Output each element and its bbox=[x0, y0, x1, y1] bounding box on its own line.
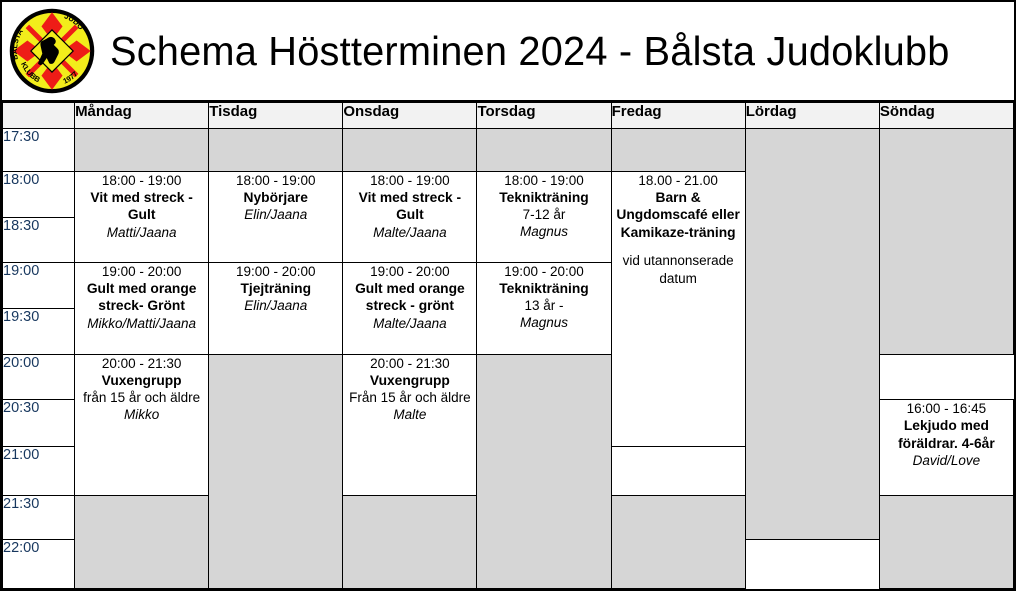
event-coach: Elin/Jaana bbox=[209, 206, 342, 223]
event-monday-1800[interactable]: 18:00 - 19:00 Vit med streck - Gult Matt… bbox=[75, 171, 209, 262]
day-header-monday: Måndag bbox=[75, 103, 209, 129]
event-time: 18:00 - 19:00 bbox=[75, 172, 208, 189]
table-header-row: Måndag Tisdag Onsdag Torsdag Fredag Lörd… bbox=[3, 103, 1014, 129]
event-time: 18:00 - 19:00 bbox=[477, 172, 610, 189]
event-subtitle: 13 år - bbox=[477, 297, 610, 314]
time-label-2200: 22:00 bbox=[3, 540, 75, 589]
page-header: BÅLSTA JUDO KLUBB 1977 Schema Hösttermin… bbox=[2, 2, 1014, 102]
event-wednesday-1900[interactable]: 19:00 - 20:00 Gult med orange streck - g… bbox=[343, 262, 477, 354]
event-tuesday-1800[interactable]: 18:00 - 19:00 Nybörjare Elin/Jaana bbox=[209, 171, 343, 262]
slot-monday-2130-2200[interactable] bbox=[75, 495, 209, 588]
event-subtitle: Från 15 år och äldre bbox=[343, 389, 476, 406]
page-title: Schema Höstterminen 2024 - Bålsta Judokl… bbox=[110, 31, 950, 72]
event-coach: Magnus bbox=[477, 314, 610, 331]
event-time: 16:00 - 16:45 bbox=[880, 400, 1013, 417]
event-monday-1900[interactable]: 19:00 - 20:00 Gult med orange streck- Gr… bbox=[75, 262, 209, 354]
time-label-2000: 20:00 bbox=[3, 354, 75, 399]
event-coach: Magnus bbox=[477, 223, 610, 240]
event-wednesday-2000[interactable]: 20:00 - 21:30 Vuxengrupp Från 15 år och … bbox=[343, 354, 477, 495]
event-name: Vit med streck - Gult bbox=[343, 189, 476, 224]
slot-tuesday-2000-2200[interactable] bbox=[209, 354, 343, 588]
event-monday-2000[interactable]: 20:00 - 21:30 Vuxengrupp från 15 år och … bbox=[75, 354, 209, 495]
schedule-page: BÅLSTA JUDO KLUBB 1977 Schema Hösttermin… bbox=[0, 0, 1016, 591]
event-subtitle: vid utannonserade datum bbox=[612, 252, 745, 286]
event-subtitle: från 15 år och äldre bbox=[75, 389, 208, 406]
event-name: Barn & Ungdomscafé eller Kamikaze-tränin… bbox=[612, 189, 745, 242]
event-time: 19:00 - 20:00 bbox=[209, 263, 342, 280]
event-wednesday-1800[interactable]: 18:00 - 19:00 Vit med streck - Gult Malt… bbox=[343, 171, 477, 262]
day-header-wednesday: Onsdag bbox=[343, 103, 477, 129]
event-name: Vuxengrupp bbox=[75, 372, 208, 390]
day-header-friday: Fredag bbox=[611, 103, 745, 129]
event-name: Tjejträning bbox=[209, 280, 342, 298]
event-name: Vit med streck - Gult bbox=[75, 189, 208, 224]
event-sunday-1600[interactable]: 16:00 - 16:45 Lekjudo med föräldrar. 4-6… bbox=[879, 399, 1013, 495]
event-time: 20:00 - 21:30 bbox=[343, 355, 476, 372]
balsta-judoklubb-logo-icon: BÅLSTA JUDO KLUBB 1977 bbox=[8, 7, 96, 95]
event-coach: David/Love bbox=[880, 452, 1013, 469]
table-row: 17:30 bbox=[3, 129, 1014, 171]
event-coach: Matti/Jaana bbox=[75, 224, 208, 241]
event-thursday-1800[interactable]: 18:00 - 19:00 Teknikträning 7-12 år Magn… bbox=[477, 171, 611, 262]
event-name: Nybörjare bbox=[209, 189, 342, 207]
event-friday-1800[interactable]: 18.00 - 21.00 Barn & Ungdomscafé eller K… bbox=[611, 171, 745, 447]
event-coach: Mikko bbox=[75, 406, 208, 423]
event-name: Lekjudo med föräldrar. 4-6år bbox=[880, 417, 1013, 452]
event-time: 20:00 - 21:30 bbox=[75, 355, 208, 372]
event-time: 18:00 - 19:00 bbox=[209, 172, 342, 189]
day-header-thursday: Torsdag bbox=[477, 103, 611, 129]
slot-wednesday-2130-2200[interactable] bbox=[343, 495, 477, 588]
event-coach: Malte bbox=[343, 406, 476, 423]
slot-thursday-2000-2200[interactable] bbox=[477, 354, 611, 588]
time-label-1900: 19:00 bbox=[3, 262, 75, 308]
slot-tuesday-1730[interactable] bbox=[209, 129, 343, 171]
event-time: 18:00 - 19:00 bbox=[343, 172, 476, 189]
time-label-1730: 17:30 bbox=[3, 129, 75, 171]
event-time: 19:00 - 20:00 bbox=[477, 263, 610, 280]
event-spacer bbox=[612, 241, 745, 252]
event-time: 19:00 - 20:00 bbox=[75, 263, 208, 280]
day-header-tuesday: Tisdag bbox=[209, 103, 343, 129]
event-time: 18.00 - 21.00 bbox=[612, 172, 745, 189]
event-time: 19:00 - 20:00 bbox=[343, 263, 476, 280]
schedule-table: Måndag Tisdag Onsdag Torsdag Fredag Lörd… bbox=[2, 102, 1014, 589]
event-name: Teknikträning bbox=[477, 189, 610, 207]
event-name: Vuxengrupp bbox=[343, 372, 476, 390]
time-label-2130: 21:30 bbox=[3, 495, 75, 539]
event-coach: Mikko/Matti/Jaana bbox=[75, 315, 208, 332]
event-name: Teknikträning bbox=[477, 280, 610, 298]
event-thursday-1900[interactable]: 19:00 - 20:00 Teknikträning 13 år - Magn… bbox=[477, 262, 611, 354]
schedule-grid: Måndag Tisdag Onsdag Torsdag Fredag Lörd… bbox=[2, 102, 1014, 589]
time-label-1800: 18:00 bbox=[3, 171, 75, 217]
slot-sunday-2130-2200[interactable] bbox=[879, 495, 1013, 588]
time-label-1830: 18:30 bbox=[3, 218, 75, 262]
day-header-sunday: Söndag bbox=[879, 103, 1013, 129]
time-label-1930: 19:30 bbox=[3, 309, 75, 354]
event-coach: Elin/Jaana bbox=[209, 297, 342, 314]
slot-thursday-1730[interactable] bbox=[477, 129, 611, 171]
corner-cell bbox=[3, 103, 75, 129]
event-name: Gult med orange streck- Grönt bbox=[75, 280, 208, 315]
slot-sunday-1730-1930[interactable] bbox=[879, 129, 1013, 354]
event-coach: Malte/Jaana bbox=[343, 224, 476, 241]
event-tuesday-1900[interactable]: 19:00 - 20:00 Tjejträning Elin/Jaana bbox=[209, 262, 343, 354]
slot-friday-1730[interactable] bbox=[611, 129, 745, 171]
time-label-2030: 20:30 bbox=[3, 399, 75, 446]
event-subtitle: 7-12 år bbox=[477, 206, 610, 223]
slot-monday-1730[interactable] bbox=[75, 129, 209, 171]
slot-friday-2130-2200[interactable] bbox=[611, 495, 745, 588]
slot-wednesday-1730[interactable] bbox=[343, 129, 477, 171]
day-header-saturday: Lördag bbox=[745, 103, 879, 129]
time-label-2100: 21:00 bbox=[3, 447, 75, 495]
slot-saturday-all[interactable] bbox=[745, 129, 879, 540]
event-name: Gult med orange streck - grönt bbox=[343, 280, 476, 315]
event-coach: Malte/Jaana bbox=[343, 315, 476, 332]
